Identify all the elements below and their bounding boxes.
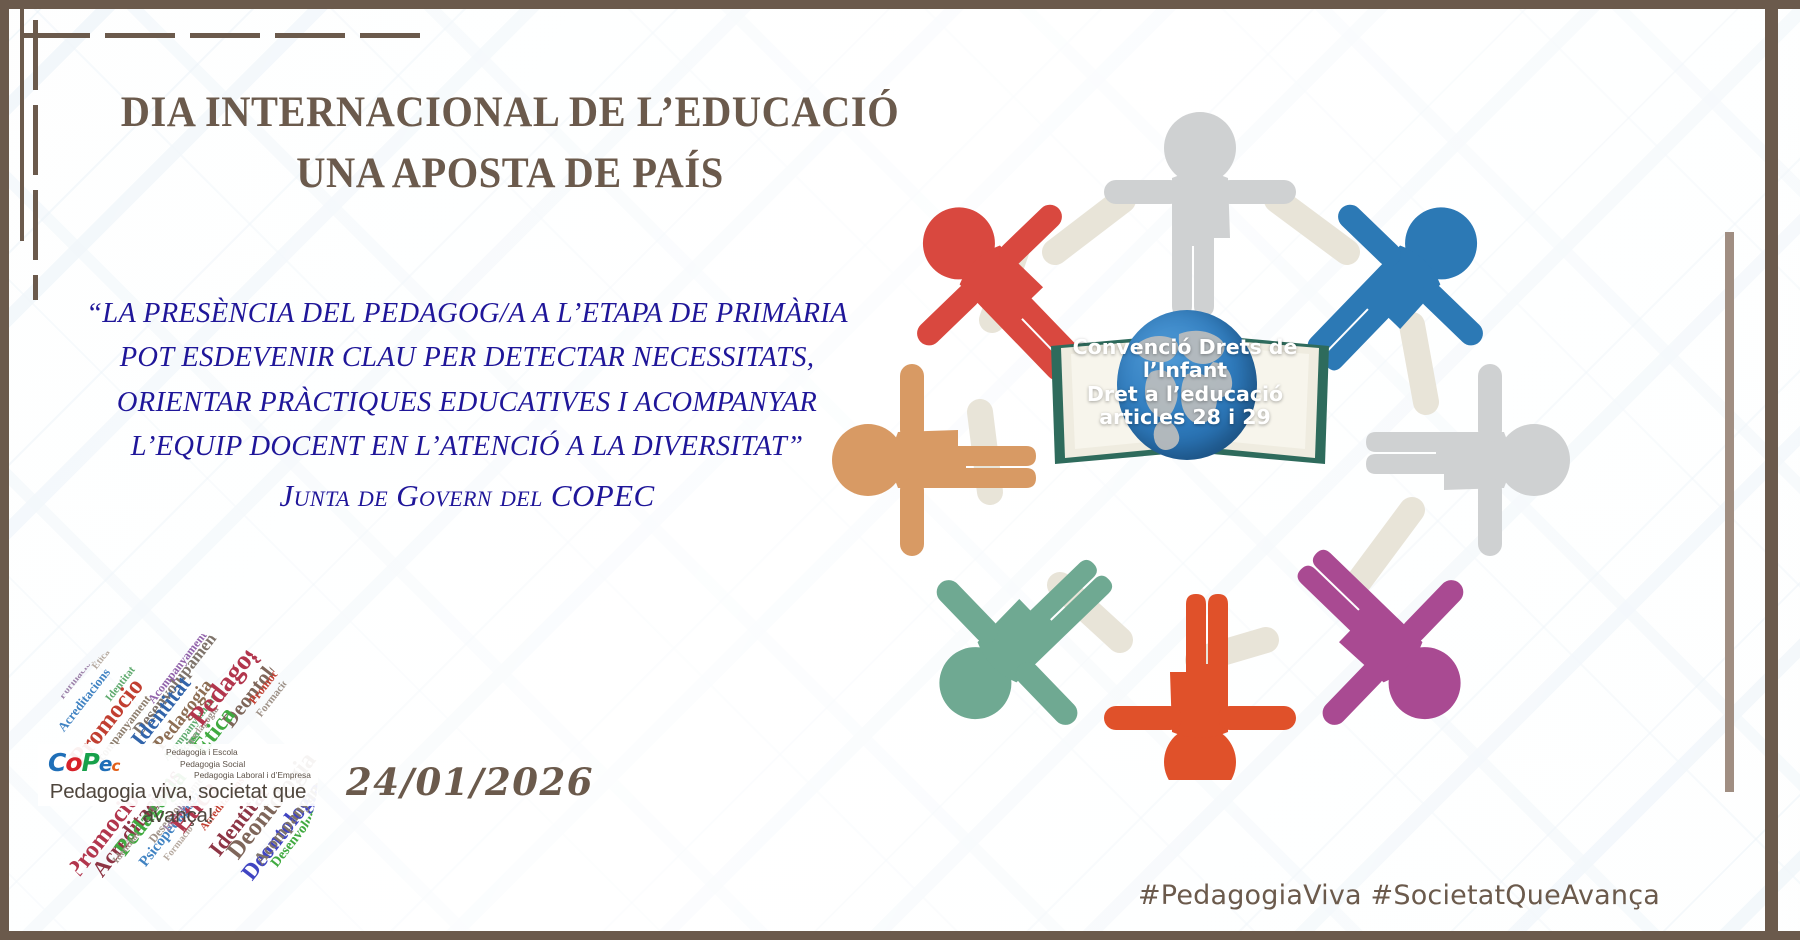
logo-letter-o: o bbox=[65, 748, 81, 777]
quote-line-1: “LA PRESÈNCIA DEL PEDAGOG/A A L’ETAPA DE… bbox=[72, 292, 862, 336]
service-line-2: Pedagogia Social bbox=[158, 759, 313, 771]
service-line-1: Pedagogia i Escola bbox=[158, 747, 313, 759]
frame-left-border bbox=[0, 0, 9, 940]
logo-letter-e: e bbox=[99, 752, 112, 776]
copec-wordmark: CoPec bbox=[48, 748, 119, 777]
page-title: DIA INTERNACIONAL DE L’EDUCACIÓ UNA APOS… bbox=[106, 82, 914, 204]
figure-top-gray bbox=[1104, 112, 1296, 316]
quote-block: “LA PRESÈNCIA DEL PEDAGOG/A A L’ETAPA DE… bbox=[72, 292, 862, 470]
headline-line-2: UNA APOSTA DE PAÍS bbox=[106, 143, 914, 204]
logo-service-lines: Pedagogia i Escola Pedagogia Social Peda… bbox=[158, 747, 313, 782]
figure-bottom-orange bbox=[1104, 594, 1296, 780]
frame-top-border bbox=[0, 0, 1800, 9]
quote-line-3: ORIENTAR PRÀCTIQUES EDUCATIVES I ACOMPAN… bbox=[72, 381, 862, 425]
logo-letter-c: C bbox=[48, 748, 65, 777]
hashtags: #PedagogiaViva #SocietatQueAvança bbox=[900, 880, 1660, 911]
figure-left-tan bbox=[832, 364, 1036, 556]
quote-attribution: Junta de Govern del COPEC bbox=[72, 478, 862, 514]
frame-dashed-vertical bbox=[33, 20, 38, 300]
frame-right-thin-bar bbox=[1725, 232, 1734, 792]
copec-logo: Formacio Acreditacions Promocio Identita… bbox=[38, 632, 318, 917]
frame-right-thick-bar bbox=[1765, 9, 1778, 940]
logo-letter-p: P bbox=[82, 748, 99, 777]
headline-line-1: DIA INTERNACIONAL DE L’EDUCACIÓ bbox=[121, 89, 900, 136]
frame-dashed-horizontal bbox=[20, 33, 420, 38]
overlay-line-3: Dret a l’educació bbox=[1060, 383, 1310, 406]
frame-left-inner-line bbox=[20, 9, 24, 241]
overlay-line-4: articles 28 i 29 bbox=[1060, 406, 1310, 429]
logo-tagline: Pedagogia viva, societat que avança! bbox=[38, 780, 318, 828]
logo-letter-c2: c bbox=[111, 757, 119, 775]
convention-overlay-text: Convenció Drets de l’Infant Dret a l’edu… bbox=[1060, 336, 1310, 429]
quote-line-4: L’EQUIP DOCENT EN L’ATENCIÓ A LA DIVERSI… bbox=[72, 425, 862, 469]
overlay-line-1: Convenció Drets de bbox=[1060, 336, 1310, 359]
quote-line-2: POT ESDEVENIR CLAU PER DETECTAR NECESSIT… bbox=[72, 336, 862, 380]
frame-bottom-border bbox=[0, 931, 1800, 940]
overlay-line-2: l’Infant bbox=[1060, 359, 1310, 382]
poster-canvas: DIA INTERNACIONAL DE L’EDUCACIÓ UNA APOS… bbox=[0, 0, 1800, 940]
